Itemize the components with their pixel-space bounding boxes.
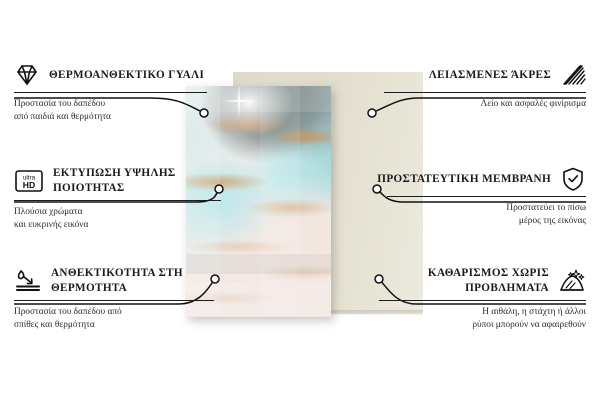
desc-line: μέρος της εικόνας (371, 215, 586, 228)
feature-heat-durability: ΑΝΘΕΚΤΙΚΟΤΗΤΑ ΣΤΗ ΘΕΡΜΟΤΗΤΑ Προστασία το… (14, 266, 229, 332)
feature-description: Λείο και ασφαλές φινίρισμα (371, 98, 586, 111)
feature-title: ΚΑΘΑΡΙΣΜΟΣ ΧΩΡΙΣ ΠΡΟΒΛΗΜΑΤΑ (371, 266, 549, 296)
feature-easy-cleaning: ΚΑΘΑΡΙΣΜΟΣ ΧΩΡΙΣ ΠΡΟΒΛΗΜΑΤΑ Η αιθάλη, η … (371, 266, 586, 332)
feature-heat-resistant-glass: ΘΕΡΜΟΑΝΘΕΚΤΙΚΟ ΓΥΑΛΙ Προστασία του δαπέδ… (14, 62, 229, 124)
divider (14, 92, 207, 93)
feature-title: ΘΕΡΜΟΑΝΘΕΚΤΙΚΟ ΓΥΑΛΙ (49, 68, 204, 83)
desc-line: Προστασία του δαπέδου από (14, 306, 229, 319)
divider (14, 300, 214, 301)
desc-line: από παιδιά και θερμότητα (14, 111, 229, 124)
divider (379, 300, 586, 301)
feature-title: ΑΝΘΕΚΤΙΚΟΤΗΤΑ ΣΤΗ ΘΕΡΜΟΤΗΤΑ (51, 266, 229, 296)
diamond-icon (14, 62, 40, 88)
ultra-hd-icon: ultra HD (14, 168, 44, 194)
desc-line: σπίθες και θερμότητα (14, 319, 229, 332)
desc-line: Προστατεύει το πίσω (371, 202, 586, 215)
feature-high-quality-print: ultra HD ΕΚΤΥΠΩΣΗ ΥΨΗΛΗΣ ΠΟΙΟΤΗΤΑΣ Πλούσ… (14, 166, 229, 232)
desc-line: ρύποι μπορούν να αφαιρεθούν (371, 319, 586, 332)
feature-description: Πλούσια χρώματα και ευκρινής εικόνα (14, 206, 229, 232)
feature-description: Η αιθάλη, η στάχτη ή άλλοι ρύποι μπορούν… (371, 306, 586, 332)
feature-title: ΕΚΤΥΠΩΣΗ ΥΨΗΛΗΣ ΠΟΙΟΤΗΤΑΣ (53, 166, 229, 196)
shield-check-icon (560, 166, 586, 192)
glass-glare-star (238, 86, 240, 118)
infographic-stage: ΘΕΡΜΟΑΝΘΕΚΤΙΚΟ ΓΥΑΛΙ Προστασία του δαπέδ… (0, 0, 600, 400)
feature-description: Προστασία του δαπέδου από σπίθες και θερ… (14, 306, 229, 332)
desc-line: Πλούσια χρώματα (14, 206, 229, 219)
desc-line: Λείο και ασφαλές φινίρισμα (371, 98, 586, 111)
feature-polished-edges: ΛΕΙΑΣΜΕΝΕΣ ΆΚΡΕΣ Λείο και ασφαλές φινίρι… (371, 62, 586, 111)
feature-description: Προστασία του δαπέδου από παιδιά και θερ… (14, 98, 229, 124)
feature-protective-membrane: ΠΡΟΣΤΑΤΕΥΤΙΚΗ ΜΕΜΒΡΑΝΗ Προστατεύει το πί… (371, 166, 586, 228)
feature-description: Προστατεύει το πίσω μέρος της εικόνας (371, 202, 586, 228)
heat-resistance-icon (14, 268, 42, 294)
easy-clean-icon (558, 268, 586, 294)
divider (387, 196, 586, 197)
desc-line: Η αιθάλη, η στάχτη ή άλλοι (371, 306, 586, 319)
polished-edges-icon (560, 62, 586, 88)
svg-text:HD: HD (23, 180, 35, 190)
divider (384, 92, 586, 93)
feature-title: ΠΡΟΣΤΑΤΕΥΤΙΚΗ ΜΕΜΒΡΑΝΗ (377, 172, 551, 187)
desc-line: Προστασία του δαπέδου (14, 98, 229, 111)
divider (14, 200, 221, 201)
feature-title: ΛΕΙΑΣΜΕΝΕΣ ΆΚΡΕΣ (429, 68, 551, 83)
desc-line: και ευκρινής εικόνα (14, 219, 229, 232)
